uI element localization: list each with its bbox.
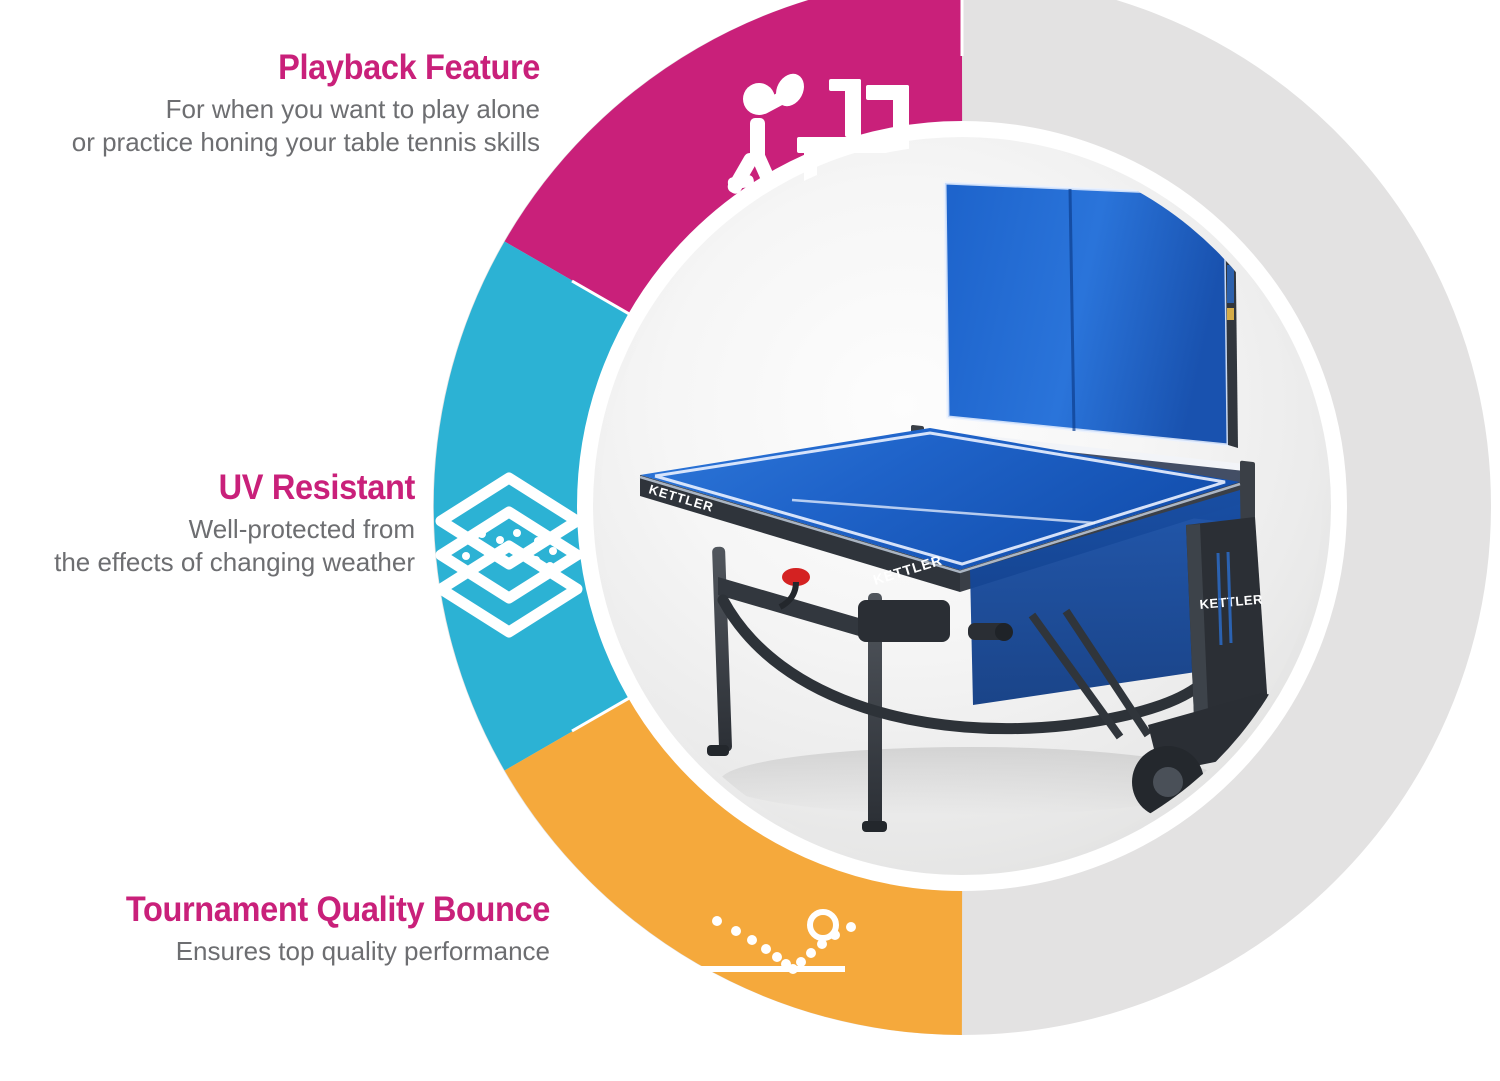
product-sticker xyxy=(1227,265,1234,303)
leg-left xyxy=(712,547,732,752)
feature-block-bounce: Tournament Quality Bounce Ensures top qu… xyxy=(0,890,550,968)
infographic-page: KETTLER KETTLER xyxy=(0,0,1500,1081)
feature-block-playback: Playback Feature For when you want to pl… xyxy=(0,48,540,160)
table-tennis-table-illustration: KETTLER KETTLER xyxy=(600,145,1322,867)
feature-description-line: the effects of changing weather xyxy=(0,546,415,579)
feature-block-uv-resistant: UV Resistant Well-protected from the eff… xyxy=(0,468,415,580)
feature-description-line: or practice honing your table tennis ski… xyxy=(0,126,540,159)
product-photo: KETTLER KETTLER xyxy=(600,145,1322,867)
feature-description-line: Ensures top quality performance xyxy=(0,935,550,968)
leg-front-foot xyxy=(862,821,887,832)
feature-description-playback: For when you want to play alone or pract… xyxy=(0,93,540,160)
table-half-upright xyxy=(945,183,1228,445)
release-knob xyxy=(995,623,1013,641)
wheel-rear-hub xyxy=(1276,727,1304,755)
feature-description-line: For when you want to play alone xyxy=(0,93,540,126)
feature-title-uv-resistant: UV Resistant xyxy=(0,468,415,507)
ring-segment-uv[interactable] xyxy=(513,281,573,731)
locking-mechanism xyxy=(858,600,950,642)
feature-description-bounce: Ensures top quality performance xyxy=(0,935,550,968)
feature-title-playback: Playback Feature xyxy=(0,48,540,87)
wheel-front-hub xyxy=(1153,767,1183,797)
leg-left-foot xyxy=(707,745,729,756)
feature-title-bounce: Tournament Quality Bounce xyxy=(0,890,550,929)
feature-description-line: Well-protected from xyxy=(0,513,415,546)
feature-description-uv-resistant: Well-protected from the effects of chang… xyxy=(0,513,415,580)
flag-sticker xyxy=(1227,308,1234,320)
